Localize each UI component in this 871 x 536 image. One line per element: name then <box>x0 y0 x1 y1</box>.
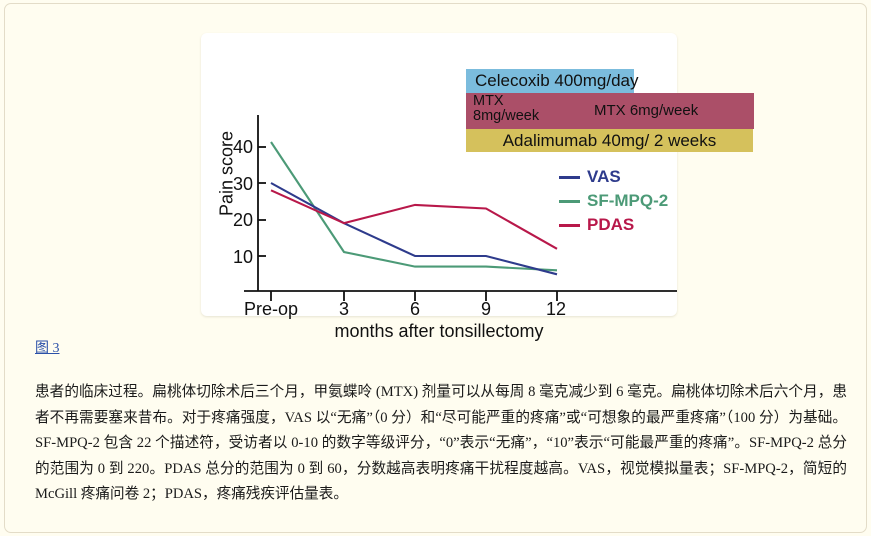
legend-label-sf-mpq-2: SF-MPQ-2 <box>587 191 668 211</box>
page-container: Pain score months after tonsillectomy 40… <box>4 3 867 533</box>
series-line-vas <box>271 183 557 274</box>
legend-swatch-sf-mpq-2 <box>559 200 580 203</box>
legend-item-pdas: PDAS <box>559 213 668 237</box>
legend-swatch-vas <box>559 176 580 179</box>
chart-legend: VAS SF-MPQ-2 PDAS <box>559 165 668 237</box>
caption-block: 图 3 患者的临床过程。扁桃体切除术后三个月，甲氨蝶呤 (MTX) 剂量可以从每… <box>35 337 847 508</box>
treatment-bar-adalimumab: Adalimumab 40mg/ 2 weeks <box>466 129 753 152</box>
figure-caption: 患者的临床过程。扁桃体切除术后三个月，甲氨蝶呤 (MTX) 剂量可以从每周 8 … <box>35 380 847 508</box>
treatment-bar-adalimumab-label: Adalimumab 40mg/ 2 weeks <box>503 131 717 151</box>
treatment-bar-mtx-right-label: MTX 6mg/week <box>594 102 698 119</box>
legend-label-pdas: PDAS <box>587 215 634 235</box>
mtx-left-line2: 8mg/week <box>473 108 539 124</box>
treatment-bar-mtx-left-label: MTX8mg/week <box>473 94 539 124</box>
treatment-bar-celecoxib: Celecoxib 400mg/day <box>466 69 634 93</box>
figure-link[interactable]: 图 3 <box>35 341 60 356</box>
figure-card: Pain score months after tonsillectomy 40… <box>201 33 677 316</box>
legend-item-vas: VAS <box>559 165 668 189</box>
series-line-pdas <box>271 190 557 249</box>
legend-swatch-pdas <box>559 224 580 227</box>
mtx-left-line1: MTX <box>473 93 504 109</box>
legend-item-sf-mpq-2: SF-MPQ-2 <box>559 189 668 213</box>
legend-label-vas: VAS <box>587 167 621 187</box>
treatment-bar-celecoxib-label: Celecoxib 400mg/day <box>475 71 638 91</box>
treatment-bar-mtx: MTX8mg/week MTX 6mg/week <box>466 93 754 129</box>
